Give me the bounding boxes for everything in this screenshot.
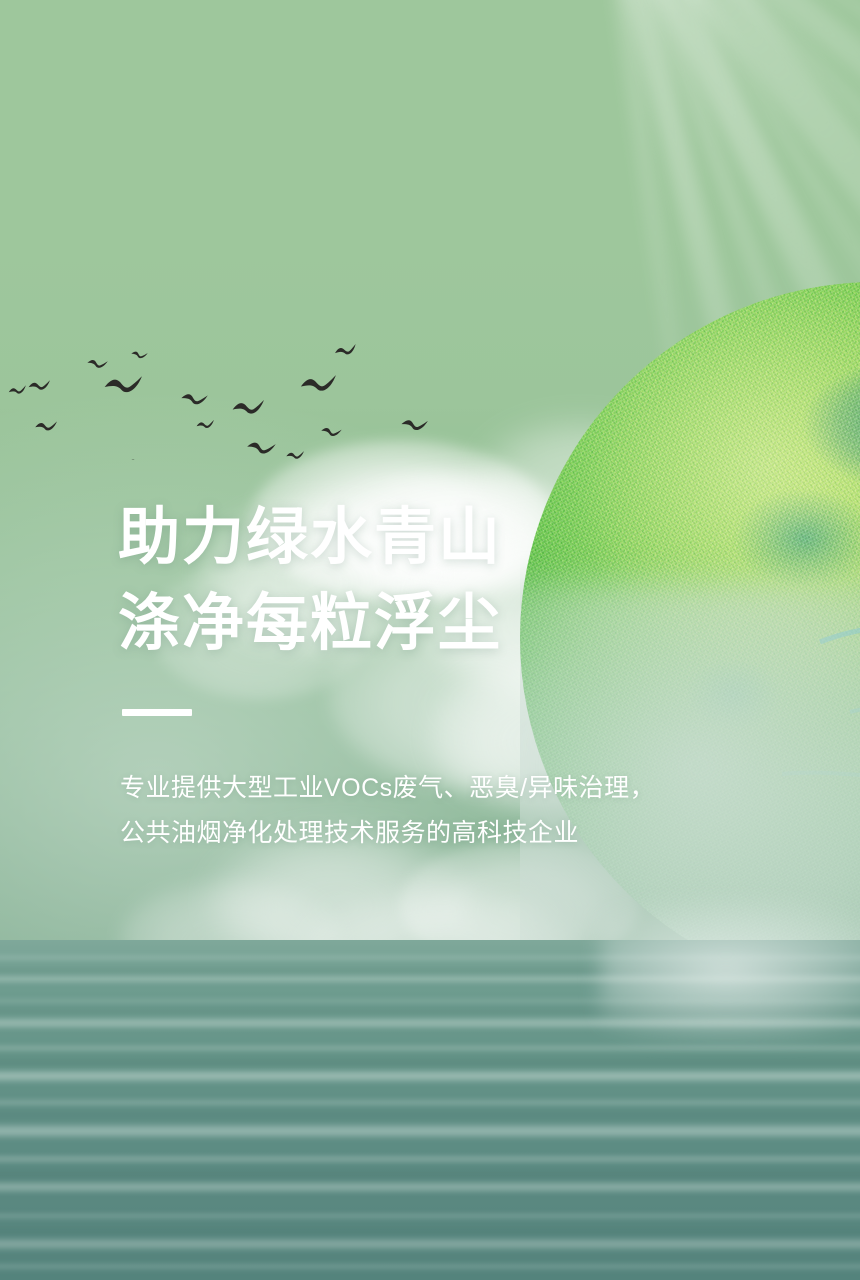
subtitle-line-2: 公共油烟净化处理技术服务的高科技企业 <box>120 813 738 854</box>
wave-highlight-3 <box>0 998 860 1004</box>
subtitle-line-1: 专业提供大型工业VOCs废气、恶臭/异味治理， <box>120 768 738 809</box>
wave-highlight-4 <box>0 1016 860 1030</box>
wave-highlight-9 <box>0 1154 860 1164</box>
wave-highlight-11 <box>0 1212 860 1220</box>
wave-shadow-5 <box>0 1168 860 1180</box>
headline-line-1: 助力绿水青山 <box>118 495 738 581</box>
wave-shadow-1 <box>0 966 860 974</box>
wave-highlight-13 <box>0 1262 860 1271</box>
wave-shadow-4 <box>0 1110 860 1120</box>
wave-shadow-3 <box>0 1056 860 1068</box>
wave-highlight-6 <box>0 1068 860 1084</box>
wave-shadow-2 <box>0 1006 860 1016</box>
water-surface <box>0 940 860 1280</box>
wave-highlight-5 <box>0 1044 860 1052</box>
decorative-divider <box>122 709 192 716</box>
wave-highlight-7 <box>0 1098 860 1107</box>
headline-block: 助力绿水青山 涤净每粒浮尘 专业提供大型工业VOCs废气、恶臭/异味治理， 公共… <box>118 495 738 854</box>
wave-highlight-8 <box>0 1122 860 1140</box>
wave-shadow-6 <box>0 1226 860 1236</box>
wave-highlight-2 <box>0 974 860 984</box>
wave-highlight-12 <box>0 1236 860 1252</box>
banner-canvas: 助力绿水青山 涤净每粒浮尘 专业提供大型工业VOCs废气、恶臭/异味治理， 公共… <box>0 0 860 1280</box>
wave-highlight-10 <box>0 1180 860 1194</box>
wave-highlight-1 <box>0 954 860 961</box>
headline-line-2: 涤净每粒浮尘 <box>118 581 738 667</box>
